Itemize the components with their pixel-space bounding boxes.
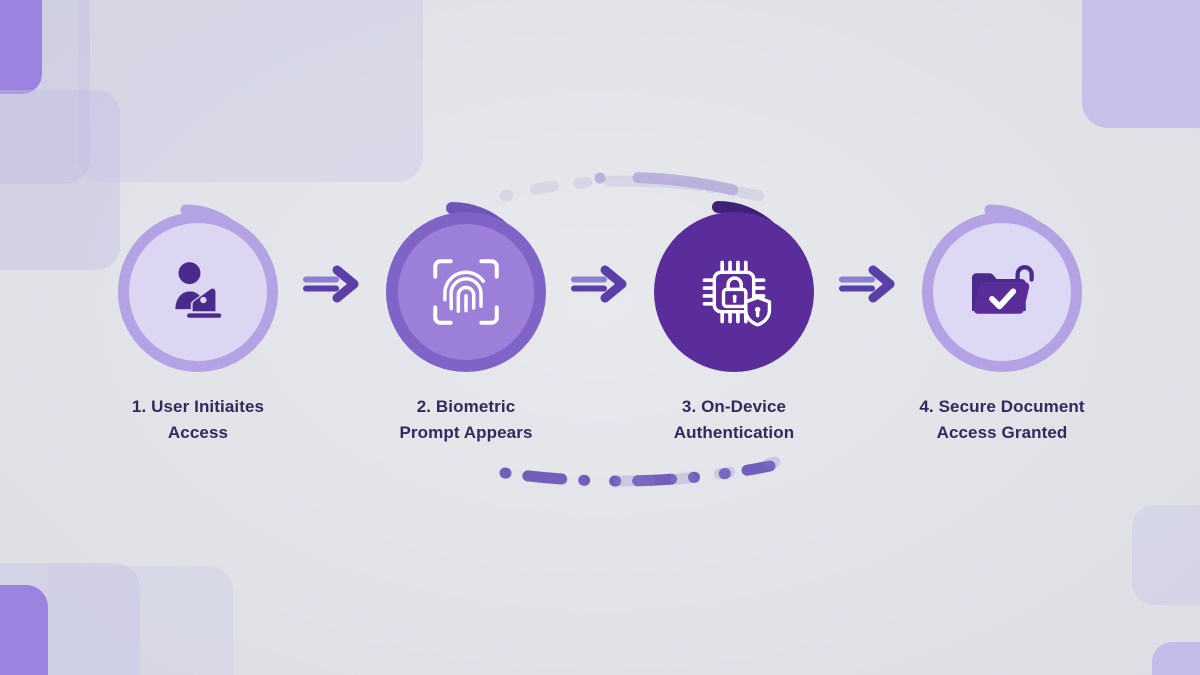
step-3-label: 3. On-Device Authentication [627,394,842,447]
flow-row: 1. User Initiaites Access [0,0,1200,675]
connector-1 [298,196,366,372]
double-arrow-right-icon [301,261,363,307]
unlocked-folder-check-icon [922,212,1082,372]
step-4-label: 4. Secure Document Access Granted [895,394,1110,447]
step-1-label-line2: Access [91,420,306,446]
step-4-label-line1: 4. Secure Document [895,394,1110,420]
step-2-badge [378,196,554,372]
step-3-badge [646,196,822,372]
chip-lock-shield-icon [654,212,814,372]
step-1-badge [110,196,286,372]
step-3-label-line2: Authentication [627,420,842,446]
double-arrow-right-icon [837,261,899,307]
step-2-label: 2. Biometric Prompt Appears [359,394,574,447]
flow-step-3[interactable]: 3. On-Device Authentication [634,196,834,447]
double-arrow-right-icon [569,261,631,307]
step-1-label-line1: 1. User Initiaites [91,394,306,420]
step-4-badge [914,196,1090,372]
step-3-label-line1: 3. On-Device [627,394,842,420]
flow-step-4[interactable]: 4. Secure Document Access Granted [902,196,1102,447]
flow-step-1[interactable]: 1. User Initiaites Access [98,196,298,447]
person-at-laptop-icon [118,212,278,372]
step-4-label-line2: Access Granted [895,420,1110,446]
infographic-canvas: 1. User Initiaites Access [0,0,1200,675]
step-2-label-line1: 2. Biometric [359,394,574,420]
fingerprint-scan-icon [386,212,546,372]
connector-3 [834,196,902,372]
flow-step-2[interactable]: 2. Biometric Prompt Appears [366,196,566,447]
step-1-label: 1. User Initiaites Access [91,394,306,447]
connector-2 [566,196,634,372]
step-2-label-line2: Prompt Appears [359,420,574,446]
